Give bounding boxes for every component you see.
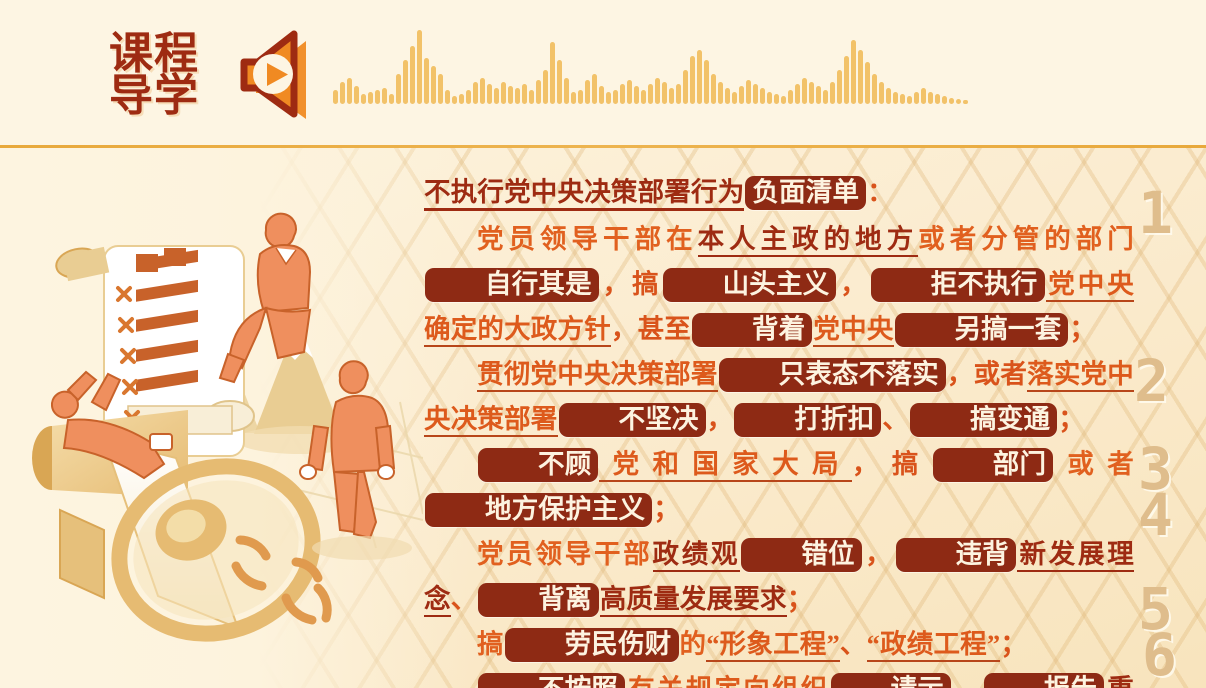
- waveform-bar: [550, 42, 555, 104]
- text-run: ；: [1058, 404, 1085, 434]
- highlight-chip: 自行其是: [425, 268, 599, 302]
- emphasis-underline: 党中央: [813, 314, 893, 347]
- list-item: 不顾党和国家大局，搞部门或者地方保护主义；: [424, 442, 1134, 532]
- text-run: 、: [952, 674, 983, 688]
- waveform-bar: [767, 92, 772, 104]
- waveform-bar: [872, 74, 877, 104]
- waveform-bar: [606, 92, 611, 104]
- waveform-bar: [641, 90, 646, 104]
- waveform-bar: [564, 78, 569, 104]
- text-run: ；: [1000, 629, 1027, 659]
- highlight-chip: 打折扣: [734, 403, 881, 437]
- waveform-bar: [739, 86, 744, 104]
- waveform-bar: [949, 98, 954, 104]
- waveform-bar: [445, 90, 450, 104]
- waveform-bar: [858, 50, 863, 104]
- waveform-bar: [403, 60, 408, 104]
- highlight-chip: 只表态不落实: [719, 358, 946, 392]
- waveform-bar: [711, 74, 716, 104]
- speaker-play-icon[interactable]: [226, 26, 322, 124]
- waveform-bar: [704, 60, 709, 104]
- highlight-chip: 另搞一套: [895, 313, 1069, 347]
- index-number-1: 1: [1138, 184, 1173, 242]
- waveform-bar: [781, 96, 786, 104]
- highlight-chip: 拒不执行: [871, 268, 1045, 302]
- waveform-bar: [844, 56, 849, 104]
- waveform-bar: [543, 70, 548, 104]
- waveform-bar: [760, 88, 765, 104]
- waveform-bar: [746, 80, 751, 104]
- waveform-bar: [921, 88, 926, 104]
- waveform-bar: [424, 58, 429, 104]
- list-item: 贯彻党中央决策部署只表态不落实，或者落实党中央决策部署不坚决，打折扣、搞变通；: [424, 352, 1134, 442]
- waveform-bar: [466, 90, 471, 104]
- waveform-bar: [438, 74, 443, 104]
- emphasis-underline: “政绩工程”: [867, 629, 1001, 662]
- waveform-bar: [809, 82, 814, 104]
- waveform-bar: [536, 80, 541, 104]
- highlight-chip: 背着: [692, 313, 812, 347]
- text-run: ，搞: [852, 449, 932, 479]
- text-run: ，: [863, 539, 895, 569]
- highlight-chip: 错位: [741, 538, 861, 572]
- text-run: 、: [451, 584, 478, 614]
- course-guide-logo: 课程 导学: [96, 24, 212, 126]
- highlight-chip: 山头主义: [663, 268, 837, 302]
- content-area: 123456 不执行党中央决策部署行为负面清单： 党员领导干部在本人主政的地方或…: [0, 148, 1206, 688]
- waveform-bar: [830, 82, 835, 104]
- highlight-chip: 不坚决: [559, 403, 706, 437]
- waveform-bar: [494, 88, 499, 104]
- waveform-bar: [914, 92, 919, 104]
- waveform-bar: [361, 94, 366, 104]
- logo-line-2: 导学: [109, 75, 199, 117]
- list-item: 党员领导干部在本人主政的地方或者分管的部门自行其是，搞山头主义，拒不执行党中央确…: [424, 217, 1134, 352]
- waveform-bar: [557, 60, 562, 104]
- waveform-bar: [620, 84, 625, 104]
- waveform-bar: [935, 94, 940, 104]
- waveform-bar: [634, 86, 639, 104]
- waveform-bar: [655, 78, 660, 104]
- waveform-bar: [529, 90, 534, 104]
- logo-line-1: 课程: [109, 33, 199, 75]
- text-run: 的: [680, 629, 707, 659]
- negative-list-text: 不执行党中央决策部署行为负面清单： 党员领导干部在本人主政的地方或者分管的部门自…: [424, 170, 1134, 688]
- title-badge: 负面清单: [745, 176, 866, 210]
- waveform-bar: [340, 82, 345, 104]
- highlight-chip: 不按照: [478, 673, 625, 688]
- text-run: ，: [707, 404, 734, 434]
- waveform-bar: [816, 86, 821, 104]
- waveform-bar: [774, 94, 779, 104]
- waveform-bar: [417, 30, 422, 104]
- waveform-bar: [508, 86, 513, 104]
- waveform-bar: [753, 84, 758, 104]
- waveform-bar: [375, 90, 380, 104]
- waveform-bar: [452, 96, 457, 104]
- waveform-bar: [578, 90, 583, 104]
- waveform-bar: [893, 92, 898, 104]
- waveform-bar: [354, 86, 359, 104]
- list-title: 不执行党中央决策部署行为负面清单：: [424, 170, 1134, 215]
- waveform-bar: [487, 84, 492, 104]
- waveform-bar: [599, 86, 604, 104]
- text-run: 党员领导干部: [477, 539, 653, 569]
- waveform-bar: [802, 78, 807, 104]
- index-number-6: 6: [1142, 626, 1177, 684]
- text-run: ；: [787, 584, 814, 614]
- highlight-chip: 搞变通: [910, 403, 1057, 437]
- waveform-bar: [389, 94, 394, 104]
- emphasis-underline: 党和国家大局: [599, 449, 852, 482]
- text-run: 、: [840, 629, 867, 659]
- list-item: 搞劳民伤财的“形象工程”、“政绩工程”；: [424, 622, 1134, 667]
- emphasis-underline: 有关规定向组织: [626, 674, 829, 688]
- text-run: 或者分管的部门: [918, 224, 1134, 254]
- poster-root: 课程 导学: [0, 0, 1206, 688]
- waveform-bar: [396, 74, 401, 104]
- waveform-bar: [410, 46, 415, 104]
- waveform-bar: [725, 88, 730, 104]
- waveform-bar: [837, 70, 842, 104]
- waveform-bar: [613, 90, 618, 104]
- waveform-bar: [795, 84, 800, 104]
- waveform-bar: [522, 84, 527, 104]
- waveform-bar: [669, 88, 674, 104]
- list-item: 不按照有关规定向组织请示、报告重大事项。: [424, 667, 1134, 688]
- waveform-bar: [718, 82, 723, 104]
- highlight-chip: 劳民伤财: [505, 628, 679, 662]
- waveform-bar: [851, 40, 856, 104]
- text-run: 或者: [1054, 449, 1134, 479]
- waveform-bar: [900, 94, 905, 104]
- waveform-bar: [886, 88, 891, 104]
- waveform-bar: [501, 82, 506, 104]
- waveform-bar: [459, 94, 464, 104]
- audio-waveform[interactable]: [333, 8, 1123, 104]
- highlight-chip: 部门: [933, 448, 1053, 482]
- waveform-bar: [333, 90, 338, 104]
- text-run: ；: [653, 494, 680, 524]
- waveform-bar: [347, 78, 352, 104]
- text-run: ，搞: [600, 269, 662, 299]
- highlight-chip: 地方保护主义: [425, 493, 652, 527]
- emphasis-underline: 政绩观: [653, 539, 741, 572]
- waveform-bar: [592, 74, 597, 104]
- isometric-illustration: [8, 158, 423, 683]
- index-number-4: 4: [1138, 486, 1173, 544]
- waveform-bar: [515, 88, 520, 104]
- waveform-bar: [956, 99, 961, 104]
- waveform-bar: [942, 96, 947, 104]
- waveform-bar: [473, 82, 478, 104]
- waveform-bar: [676, 84, 681, 104]
- waveform-bar: [907, 96, 912, 104]
- text-run: 、: [882, 404, 909, 434]
- waveform-bar: [683, 70, 688, 104]
- highlight-chip: 请示: [831, 673, 951, 688]
- highlight-chip: 报告: [984, 673, 1104, 688]
- waveform-bar: [480, 78, 485, 104]
- list-item: 党员领导干部政绩观错位，违背新发展理念、背离高质量发展要求；: [424, 532, 1134, 622]
- title-heading: 不执行党中央决策部署行为: [424, 177, 744, 211]
- waveform-bar: [431, 66, 436, 104]
- section-index-numbers: 123456: [1128, 148, 1206, 688]
- text-run: 搞: [477, 629, 504, 659]
- waveform-bar: [368, 92, 373, 104]
- waveform-bar: [788, 90, 793, 104]
- text-run: 党员领导干部在: [477, 224, 698, 254]
- waveform-bar: [697, 50, 702, 104]
- highlight-chip: 背离: [478, 583, 598, 617]
- index-number-2: 2: [1134, 352, 1169, 410]
- waveform-bar: [382, 88, 387, 104]
- emphasis-underline: 贯彻党中央决策部署: [477, 359, 718, 392]
- text-run: ，或者: [947, 359, 1027, 389]
- waveform-bar: [928, 92, 933, 104]
- waveform-bar: [732, 92, 737, 104]
- emphasis-underline: 本人主政的地方: [698, 224, 919, 257]
- waveform-bar: [963, 100, 968, 104]
- header-bar: 课程 导学: [0, 0, 1206, 148]
- text-run: ，: [837, 269, 869, 299]
- waveform-bar: [585, 80, 590, 104]
- text-run: ，甚至: [611, 314, 691, 344]
- text-run: ；: [1069, 314, 1096, 344]
- list-items-container: 党员领导干部在本人主政的地方或者分管的部门自行其是，搞山头主义，拒不执行党中央确…: [424, 217, 1134, 688]
- emphasis-underline: “形象工程”: [706, 629, 840, 662]
- waveform-bar: [627, 80, 632, 104]
- waveform-bar: [823, 90, 828, 104]
- waveform-bar: [879, 82, 884, 104]
- highlight-chip: 违背: [896, 538, 1016, 572]
- title-colon: ：: [867, 177, 894, 207]
- highlight-chip: 不顾: [478, 448, 598, 482]
- waveform-bar: [865, 62, 870, 104]
- waveform-bar: [662, 82, 667, 104]
- waveform-bar: [690, 56, 695, 104]
- waveform-bar: [648, 84, 653, 104]
- emphasis-underline: 高质量发展要求: [600, 584, 787, 617]
- waveform-bar: [571, 92, 576, 104]
